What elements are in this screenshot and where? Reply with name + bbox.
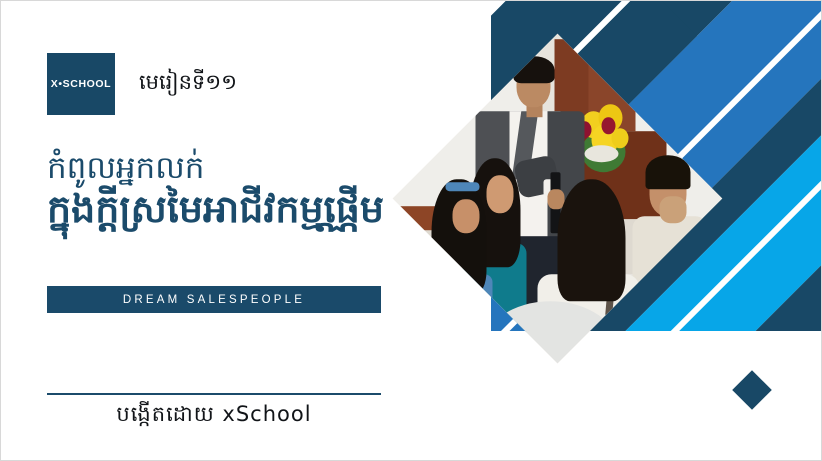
lesson-label: មេរៀនទី១១ bbox=[139, 69, 237, 100]
footer-divider bbox=[47, 393, 381, 395]
slide-canvas: X•SCHOOL មេរៀនទី១១ កំពូលអ្នកលក់ ក្នុងក្ដ… bbox=[0, 0, 822, 461]
photo-audience-man-hair bbox=[646, 154, 690, 188]
accent-diamond bbox=[732, 370, 772, 410]
page-title-line-1: កំពូលអ្នកលក់ bbox=[47, 151, 467, 186]
subtitle-banner: DREAM SALESPEOPLE bbox=[47, 286, 381, 313]
page-title-line-2: ក្នុងក្ដីស្រមៃអាជីវកម្មផ្ណើម bbox=[47, 188, 467, 232]
content-column: X•SCHOOL មេរៀនទី១១ កំពូលអ្នកលក់ ក្នុងក្ដ… bbox=[1, 1, 471, 461]
photo-flower-red-2 bbox=[602, 117, 616, 134]
subtitle-banner-text: DREAM SALESPEOPLE bbox=[123, 294, 305, 306]
photo-audience-woman-back-hair bbox=[558, 178, 626, 300]
photo-presenter-hair bbox=[513, 56, 554, 83]
photo-audience-man-body bbox=[632, 216, 707, 332]
page-title: កំពូលអ្នកលក់ ក្នុងក្ដីស្រមៃអាជីវកម្មផ្ណើ… bbox=[47, 151, 467, 231]
xschool-logo-text: X•SCHOOL bbox=[51, 78, 111, 90]
xschool-logo[interactable]: X•SCHOOL bbox=[47, 53, 115, 115]
brand-row: X•SCHOOL មេរៀនទី១១ bbox=[47, 53, 237, 115]
photo-audience-woman-teal-face bbox=[486, 175, 513, 212]
photo-audience-man-hand bbox=[660, 195, 687, 222]
footer-credit: បង្កើតដោយ xSchool bbox=[47, 401, 381, 432]
